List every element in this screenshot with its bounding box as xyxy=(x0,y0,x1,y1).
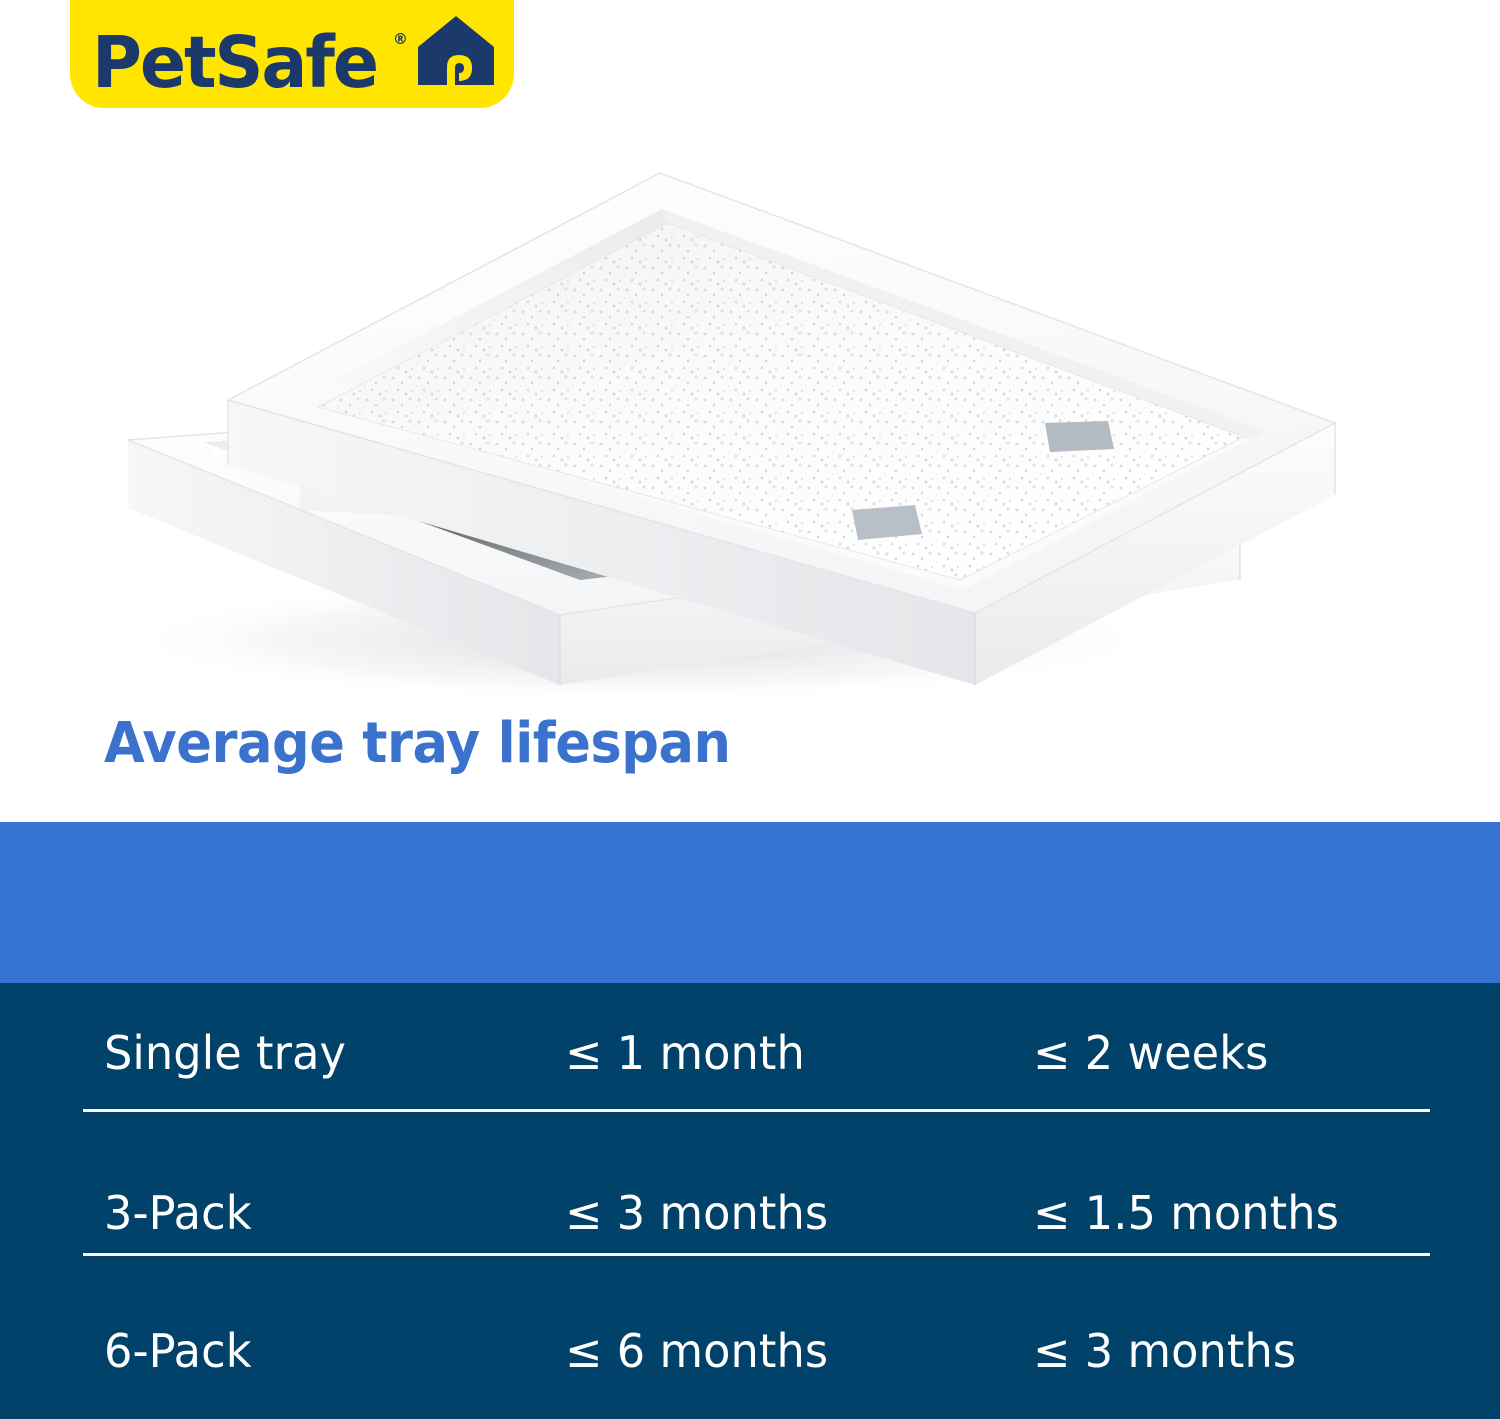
grey-handle-tab xyxy=(1045,421,1114,452)
cell-two-cats-3: ≤ 3 months xyxy=(1033,1328,1296,1374)
product-infographic-page: PetSafe ® xyxy=(0,0,1500,1419)
logo-inner: PetSafe ® xyxy=(70,11,492,92)
table-row: 6-Pack ≤ 6 months ≤ 3 months xyxy=(0,1328,1500,1419)
litter-tray-illustration xyxy=(0,110,1500,700)
petsafe-house-icon xyxy=(414,13,498,94)
table-header-band: Trays 1 Cat 2 Cats xyxy=(0,822,1500,983)
cell-one-cat-3: ≤ 6 months xyxy=(565,1328,828,1374)
cell-one-cat-1: ≤ 1 month xyxy=(565,1030,805,1076)
brand-wordmark: PetSafe xyxy=(92,34,377,92)
row-divider xyxy=(83,1253,1430,1256)
cell-trays-3: 6-Pack xyxy=(104,1328,252,1374)
cell-one-cat-2: ≤ 3 months xyxy=(565,1190,828,1236)
row-divider xyxy=(83,1109,1430,1112)
section-heading: Average tray lifespan xyxy=(104,716,731,772)
table-body-band: Single tray ≤ 1 month ≤ 2 weeks 3-Pack ≤… xyxy=(0,983,1500,1419)
cell-two-cats-2: ≤ 1.5 months xyxy=(1033,1190,1339,1236)
registered-trademark-icon: ® xyxy=(393,30,408,48)
grey-handle-tab xyxy=(852,505,922,540)
product-photo xyxy=(0,110,1500,700)
petsafe-logo: PetSafe ® xyxy=(70,0,514,108)
cell-trays-1: Single tray xyxy=(104,1030,346,1076)
cell-two-cats-1: ≤ 2 weeks xyxy=(1033,1030,1269,1076)
cell-trays-2: 3-Pack xyxy=(104,1190,252,1236)
